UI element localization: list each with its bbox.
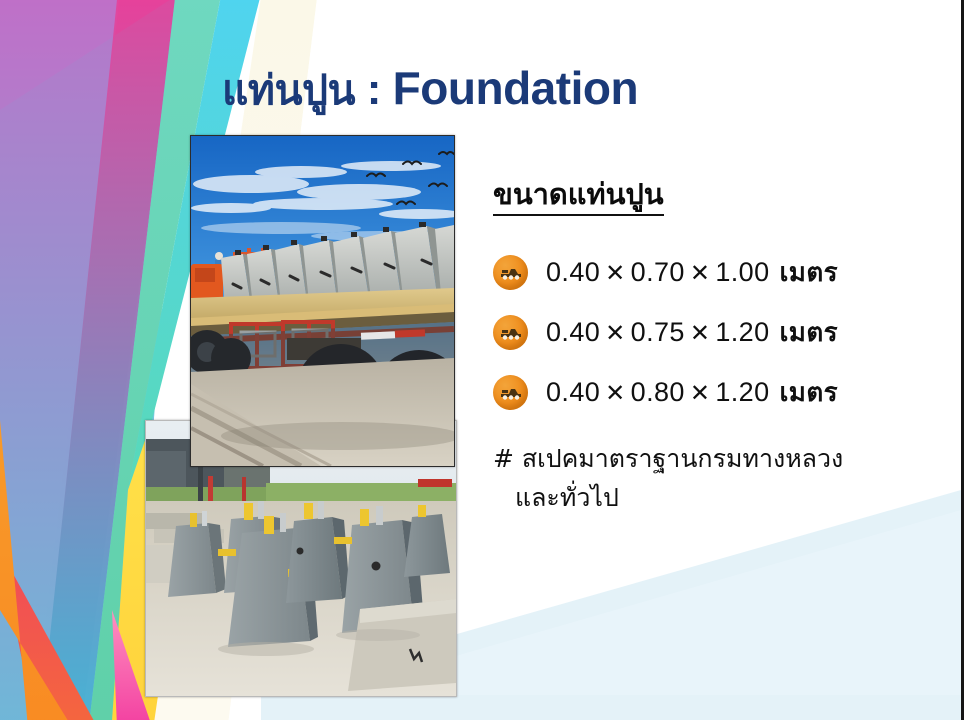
standard-note-line-2: และทั่วไป <box>493 479 943 518</box>
spec-dim-2: 0.75 <box>631 317 685 347</box>
spec-row-text: 0.40✕0.80✕1.20เมตร <box>546 372 838 413</box>
standard-note-line-1: # สเปคมาตราฐานกรมทางหลวง <box>493 440 943 479</box>
slide-title-english: Foundation <box>393 62 638 114</box>
spec-sep-1: ✕ <box>600 380 631 407</box>
spec-dim-1: 0.40 <box>546 257 600 287</box>
spec-dim-2: 0.80 <box>631 377 685 407</box>
spec-unit: เมตร <box>770 318 838 348</box>
concrete-truck-icon <box>493 315 528 350</box>
spec-dim-1: 0.40 <box>546 317 600 347</box>
specifications-panel: ขนาดแท่นปูน 0.40✕0.70✕1.00เมตร <box>493 176 943 518</box>
spec-unit: เมตร <box>770 378 838 408</box>
spec-dim-3: 1.20 <box>715 377 769 407</box>
spec-row-text: 0.40✕0.70✕1.00เมตร <box>546 252 838 293</box>
truck-loaded-with-concrete-foundations-photo <box>190 135 455 467</box>
spec-heading: ขนาดแท่นปูน <box>493 176 664 216</box>
spec-unit: เมตร <box>770 258 838 288</box>
slide-title-separator: : <box>367 65 381 114</box>
concrete-truck-icon <box>493 375 528 410</box>
spec-list: 0.40✕0.70✕1.00เมตร 0.40✕0.75✕1.20เมตร <box>493 242 943 422</box>
spec-sep-2: ✕ <box>685 380 716 407</box>
spec-row: 0.40✕0.75✕1.20เมตร <box>493 302 943 362</box>
spec-dim-3: 1.20 <box>715 317 769 347</box>
standard-note: # สเปคมาตราฐานกรมทางหลวง และทั่วไป <box>493 440 943 518</box>
spec-dim-3: 1.00 <box>715 257 769 287</box>
spec-dim-2: 0.70 <box>631 257 685 287</box>
spec-row: 0.40✕0.80✕1.20เมตร <box>493 362 943 422</box>
spec-sep-2: ✕ <box>685 260 716 287</box>
spec-row: 0.40✕0.70✕1.00เมตร <box>493 242 943 302</box>
concrete-truck-icon <box>493 255 528 290</box>
slide-title: แท่นปูน : Foundation <box>222 58 638 123</box>
spec-sep-2: ✕ <box>685 320 716 347</box>
spec-sep-1: ✕ <box>600 260 631 287</box>
slide-title-thai: แท่นปูน <box>222 66 355 114</box>
slide-canvas: แท่นปูน : Foundation <box>0 0 964 720</box>
spec-dim-1: 0.40 <box>546 377 600 407</box>
spec-row-text: 0.40✕0.75✕1.20เมตร <box>546 312 838 353</box>
spec-sep-1: ✕ <box>600 320 631 347</box>
